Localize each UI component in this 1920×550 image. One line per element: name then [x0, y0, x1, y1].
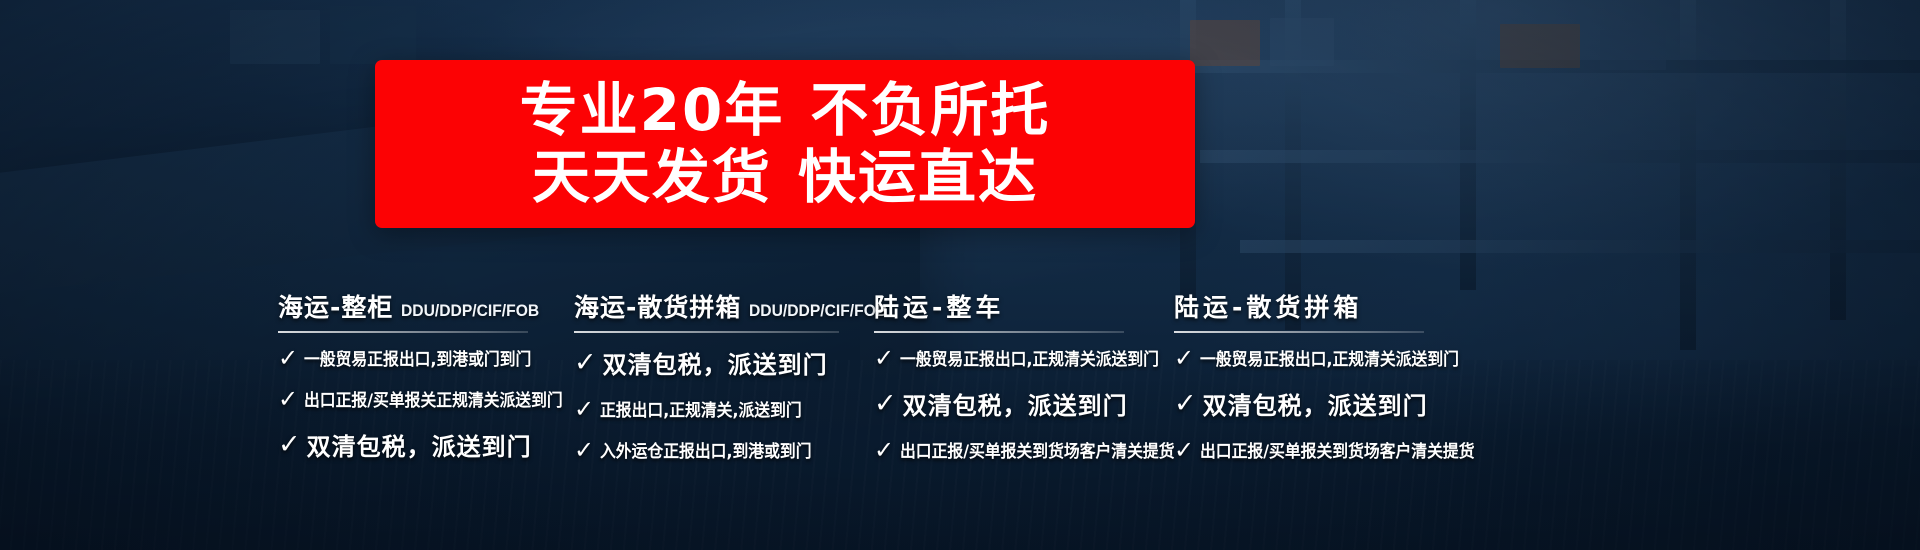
check-icon: ✓ [574, 349, 597, 376]
divider [1174, 331, 1424, 333]
service-item-text: 入外运仓正报出口,到港或到门 [600, 437, 812, 462]
service-columns: 海运-整柜 DDU/DDP/CIF/FOB ✓ 一般贸易正报出口,到港或门到门 … [278, 288, 1648, 478]
column-title: 陆运-散货拼箱 [1174, 288, 1362, 324]
check-icon: ✓ [574, 438, 594, 462]
headline-line-2: 天天发货快运直达 [532, 146, 1038, 209]
service-item-text: 一般贸易正报出口,到港或门到门 [304, 345, 531, 370]
column-heading: 陆运-整车 [874, 288, 1174, 324]
service-item-text: 出口正报/买单报关正规清关派送到门 [304, 386, 563, 411]
service-item-highlight: ✓ 双清包税，派送到门 [574, 345, 874, 380]
divider [874, 331, 1124, 333]
service-item-text: 出口正报/买单报关到货场客户清关提货 [1200, 437, 1475, 462]
service-item: ✓ 入外运仓正报出口,到港或到门 [574, 437, 874, 462]
column-title: 海运-整柜 [278, 288, 393, 324]
column-title: 海运-散货拼箱 [574, 288, 741, 324]
service-item-highlight: ✓ 双清包税，派送到门 [874, 386, 1174, 421]
check-icon: ✓ [278, 346, 298, 370]
service-item-text: 出口正报/买单报关到货场客户清关提货 [900, 437, 1175, 462]
service-item-text: 双清包税，派送到门 [307, 427, 532, 462]
check-icon: ✓ [278, 387, 298, 411]
service-item: ✓ 出口正报/买单报关到货场客户清关提货 [1174, 437, 1474, 462]
divider [574, 331, 839, 333]
check-icon: ✓ [1174, 438, 1194, 462]
service-column-land-ftl: 陆运-整车 ✓ 一般贸易正报出口,正规清关派送到门 ✓ 双清包税，派送到门 ✓ … [874, 288, 1174, 478]
service-column-land-ltl: 陆运-散货拼箱 ✓ 一般贸易正报出口,正规清关派送到门 ✓ 双清包税，派送到门 … [1174, 288, 1474, 478]
headline-line-2-part-a: 天天发货 [532, 143, 772, 211]
service-item-highlight: ✓ 双清包税，派送到门 [278, 427, 574, 462]
column-subtitle: DDU/DDP/CIF/FOB [749, 301, 887, 321]
service-item: ✓ 出口正报/买单报关到货场客户清关提货 [874, 437, 1174, 462]
column-heading: 海运-散货拼箱 DDU/DDP/CIF/FOB [574, 288, 874, 324]
check-icon: ✓ [874, 438, 894, 462]
column-subtitle: DDU/DDP/CIF/FOB [401, 301, 539, 321]
headline-line-1-part-a: 专业20年 [520, 76, 785, 144]
service-item: ✓ 出口正报/买单报关正规清关派送到门 [278, 386, 574, 411]
column-heading: 陆运-散货拼箱 [1174, 288, 1474, 324]
check-icon: ✓ [278, 431, 301, 458]
service-item-text: 双清包税，派送到门 [1203, 386, 1428, 421]
check-icon: ✓ [874, 390, 897, 417]
service-item: ✓ 正报出口,正规清关,派送到门 [574, 396, 874, 421]
check-icon: ✓ [1174, 390, 1197, 417]
service-item-text: 一般贸易正报出口,正规清关派送到门 [1200, 345, 1459, 370]
check-icon: ✓ [1174, 346, 1194, 370]
service-column-sea-lcl: 海运-散货拼箱 DDU/DDP/CIF/FOB ✓ 双清包税，派送到门 ✓ 正报… [574, 288, 874, 478]
headline-line-1-part-b: 不负所托 [810, 76, 1050, 144]
check-icon: ✓ [574, 397, 594, 421]
column-title: 陆运-整车 [874, 288, 1004, 324]
service-item-highlight: ✓ 双清包税，派送到门 [1174, 386, 1474, 421]
check-icon: ✓ [874, 346, 894, 370]
service-item-text: 双清包税，派送到门 [603, 345, 828, 380]
service-item-text: 双清包税，派送到门 [903, 386, 1128, 421]
column-heading: 海运-整柜 DDU/DDP/CIF/FOB [278, 288, 574, 324]
service-item: ✓ 一般贸易正报出口,正规清关派送到门 [874, 345, 1174, 370]
headline-line-1: 专业20年不负所托 [520, 79, 1051, 142]
headline-line-2-part-b: 快运直达 [798, 143, 1038, 211]
service-item-text: 正报出口,正规清关,派送到门 [600, 396, 802, 421]
service-item-text: 一般贸易正报出口,正规清关派送到门 [900, 345, 1159, 370]
divider [278, 331, 528, 333]
service-item: ✓ 一般贸易正报出口,到港或门到门 [278, 345, 574, 370]
headline-plate: 专业20年不负所托 天天发货快运直达 [375, 60, 1195, 228]
service-column-sea-fcl: 海运-整柜 DDU/DDP/CIF/FOB ✓ 一般贸易正报出口,到港或门到门 … [278, 288, 574, 478]
service-item: ✓ 一般贸易正报出口,正规清关派送到门 [1174, 345, 1474, 370]
logistics-promo-banner: 专业20年不负所托 天天发货快运直达 海运-整柜 DDU/DDP/CIF/FOB… [0, 0, 1920, 550]
